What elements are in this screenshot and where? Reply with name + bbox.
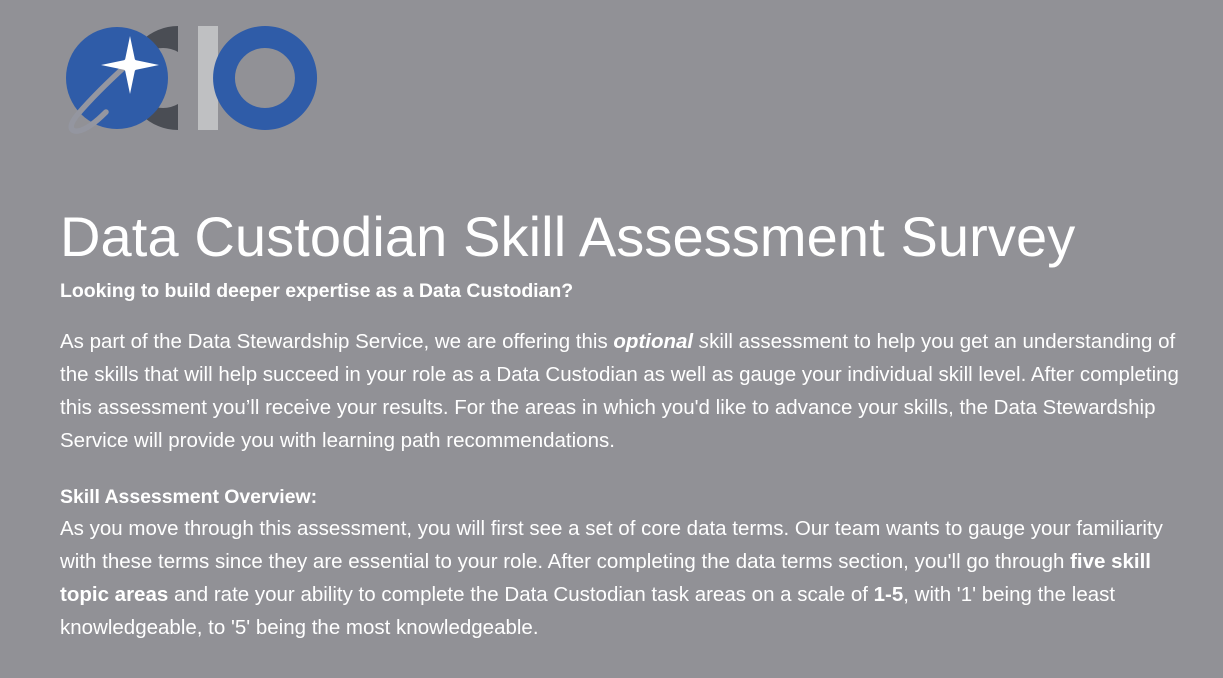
lead-heading: Looking to build deeper expertise as a D…: [60, 278, 1185, 304]
overview-paragraph-part-1: As you move through this assessment, you…: [60, 517, 1163, 573]
ocio-logo-icon: [60, 18, 322, 138]
logo-star-core: [123, 58, 138, 73]
intro-paragraph-emphasis-optional: optional: [613, 330, 693, 353]
intro-paragraph-part-1: As part of the Data Stewardship Service,…: [60, 330, 613, 353]
intro-paragraph-emphasis-s: s: [693, 330, 709, 353]
overview-bold-scale: 1-5: [874, 583, 904, 606]
overview-heading: Skill Assessment Overview:: [60, 484, 1185, 510]
ocio-logo: [60, 18, 322, 138]
page-title: Data Custodian Skill Assessment Survey: [60, 206, 1075, 269]
overview-paragraph-part-2: and rate your ability to complete the Da…: [168, 583, 873, 606]
survey-intro-content: Looking to build deeper expertise as a D…: [60, 278, 1185, 644]
overview-paragraph: As you move through this assessment, you…: [60, 512, 1185, 644]
intro-paragraph: As part of the Data Stewardship Service,…: [60, 325, 1185, 457]
survey-page: Data Custodian Skill Assessment Survey L…: [0, 0, 1223, 678]
logo-letter-o: [213, 26, 317, 130]
